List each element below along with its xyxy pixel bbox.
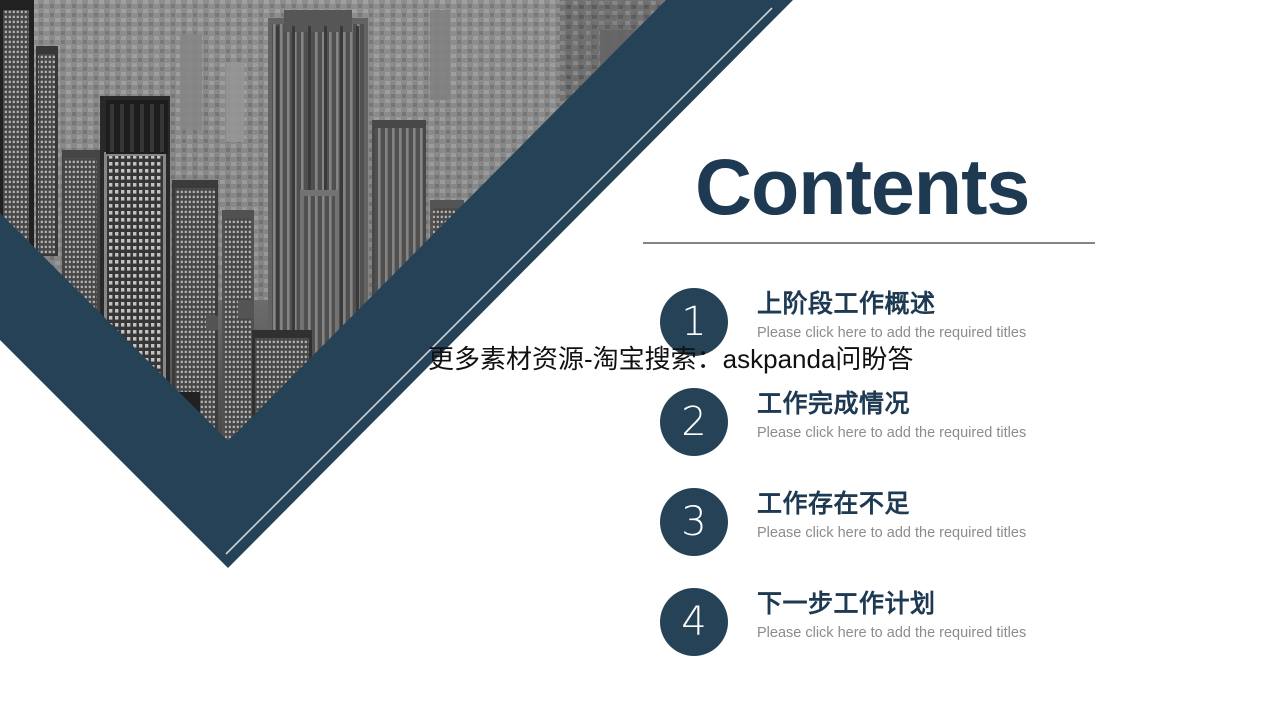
page-title: Contents — [695, 147, 1029, 226]
list-item[interactable]: 2 工作完成情况 Please click here to add the re… — [660, 386, 1200, 486]
list-item[interactable]: 3 工作存在不足 Please click here to add the re… — [660, 486, 1200, 586]
item-number-badge: 4 — [660, 588, 728, 656]
item-subtitle: Please click here to add the required ti… — [757, 324, 1026, 344]
item-text-group: 下一步工作计划 Please click here to add the req… — [757, 589, 1026, 644]
item-subtitle: Please click here to add the required ti… — [757, 524, 1026, 544]
item-subtitle: Please click here to add the required ti… — [757, 424, 1026, 444]
item-number-badge: 3 — [660, 488, 728, 556]
presentation-slide: Contents 1 上阶段工作概述 Please click here to … — [0, 0, 1280, 720]
item-number-badge: 2 — [660, 388, 728, 456]
item-heading: 工作存在不足 — [757, 489, 1026, 520]
item-text-group: 上阶段工作概述 Please click here to add the req… — [757, 289, 1026, 344]
item-subtitle: Please click here to add the required ti… — [757, 624, 1026, 644]
item-heading: 下一步工作计划 — [757, 589, 1026, 620]
item-number: 3 — [681, 502, 706, 542]
list-item[interactable]: 4 下一步工作计划 Please click here to add the r… — [660, 586, 1200, 686]
item-text-group: 工作存在不足 Please click here to add the requ… — [757, 489, 1026, 544]
item-number: 2 — [681, 402, 706, 442]
watermark-text: 更多素材资源-淘宝搜索：askpanda问盼答 — [428, 344, 913, 375]
item-text-group: 工作完成情况 Please click here to add the requ… — [757, 389, 1026, 444]
item-heading: 工作完成情况 — [757, 389, 1026, 420]
item-heading: 上阶段工作概述 — [757, 289, 1026, 320]
item-number: 4 — [681, 602, 706, 642]
title-divider — [643, 242, 1095, 244]
item-number: 1 — [681, 302, 706, 342]
